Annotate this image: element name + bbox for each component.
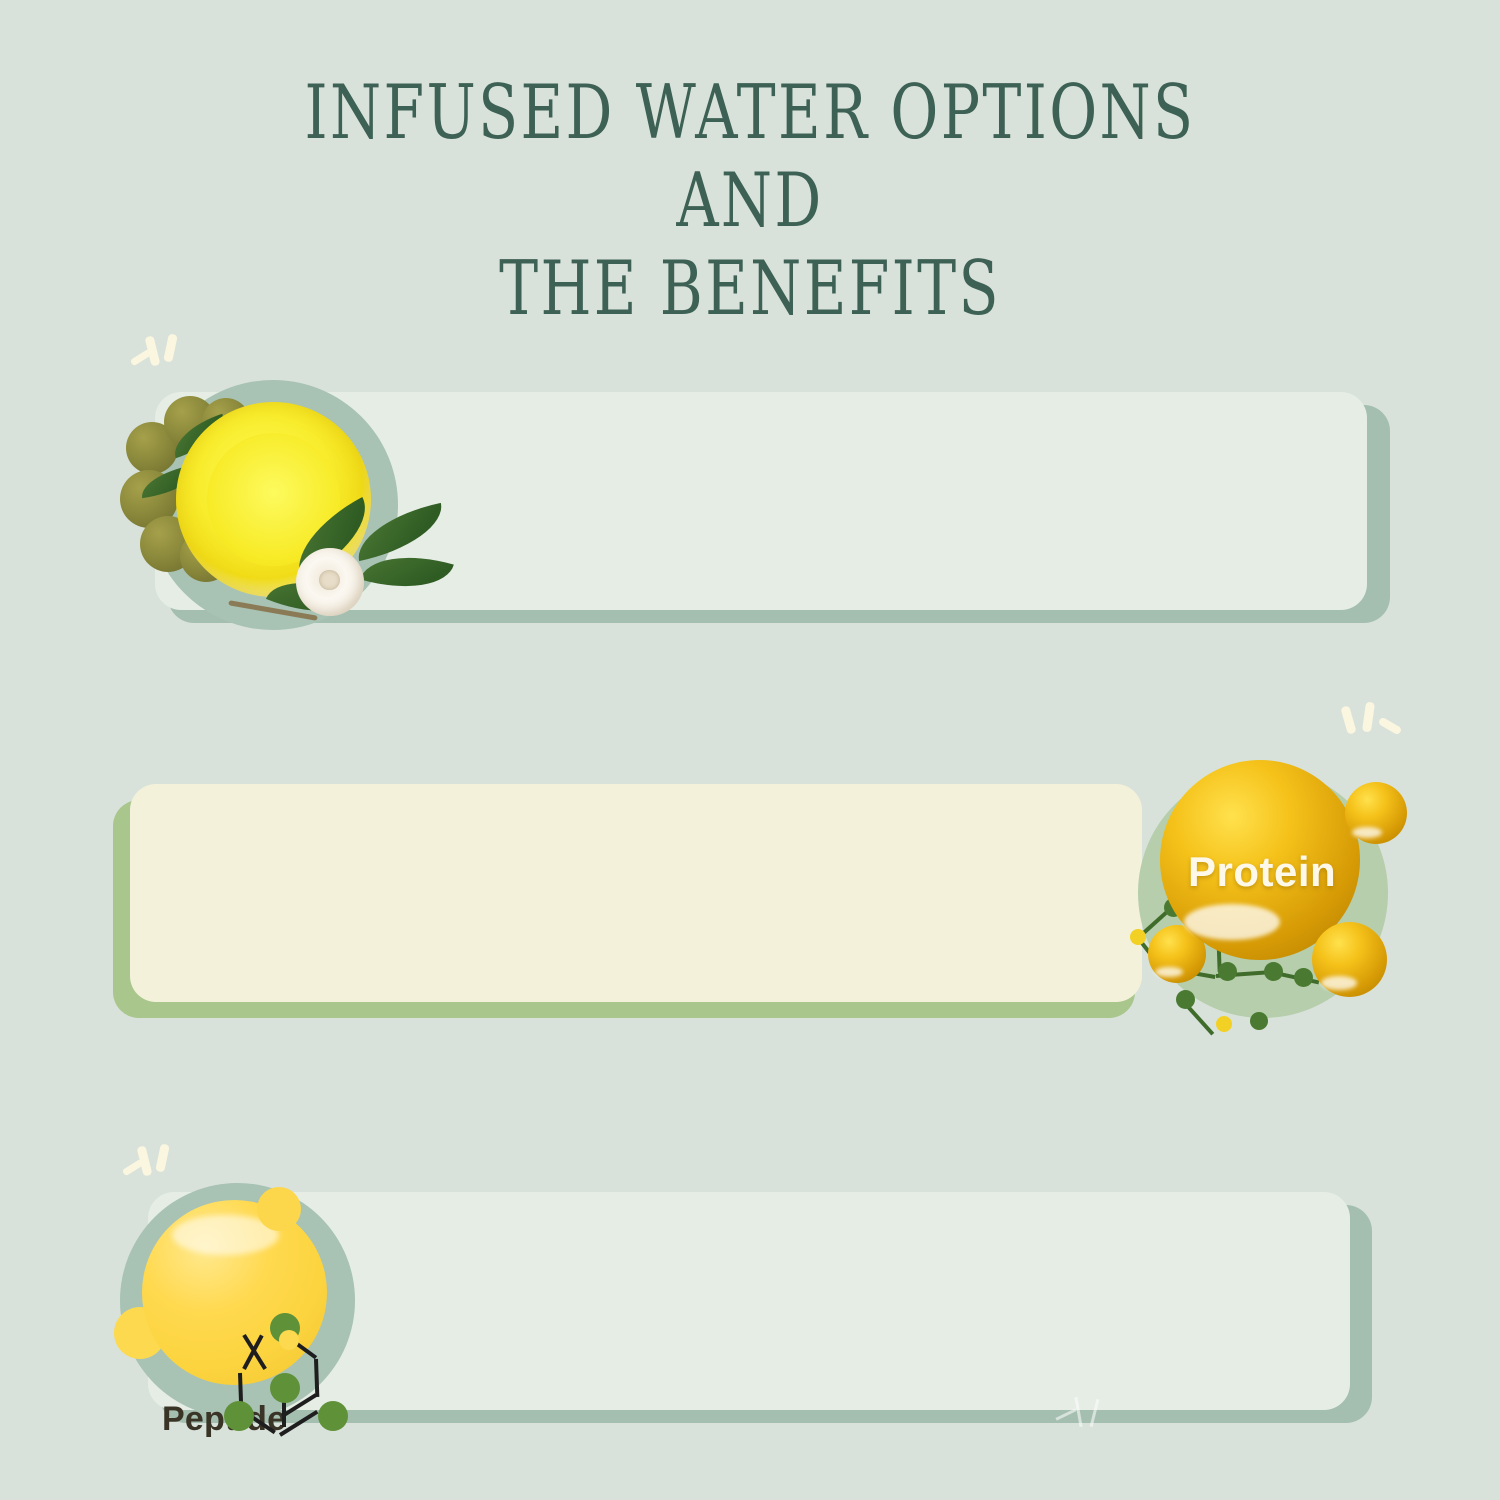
molecule-node xyxy=(1218,962,1237,981)
card-plant-proteins[interactable]: Multiple Plant Proteins Elastin + Wheat … xyxy=(130,784,1142,1002)
page-title: INFUSED WATER OPTIONS AND THE BENEFITS xyxy=(282,68,1218,332)
molecule-node xyxy=(224,1401,254,1431)
gold-droplet-icon xyxy=(1345,782,1407,844)
camellia-flower-icon xyxy=(296,548,364,616)
protein-molecule-image: Protein xyxy=(1120,740,1450,1040)
molecule-node xyxy=(1250,1012,1268,1030)
gold-droplet-icon xyxy=(1312,922,1387,997)
yellow-dot-icon xyxy=(279,1330,299,1350)
peptide-molecule-image: Peptide xyxy=(112,1145,432,1455)
sparkle-icon xyxy=(1055,1395,1115,1441)
molecule-node xyxy=(270,1373,300,1403)
olive-oil-bowl-image xyxy=(118,330,458,660)
molecule-node xyxy=(1130,929,1146,945)
molecule-node xyxy=(318,1401,348,1431)
peptide-sphere xyxy=(142,1200,327,1385)
molecule-node xyxy=(1264,962,1283,981)
protein-label: Protein xyxy=(1188,848,1358,896)
molecule-node xyxy=(1176,990,1195,1009)
molecule-node xyxy=(1216,1016,1232,1032)
molecule-node xyxy=(1294,968,1313,987)
yellow-dot-icon xyxy=(257,1187,301,1231)
infographic-page: INFUSED WATER OPTIONS AND THE BENEFITS Q… xyxy=(0,0,1500,1500)
